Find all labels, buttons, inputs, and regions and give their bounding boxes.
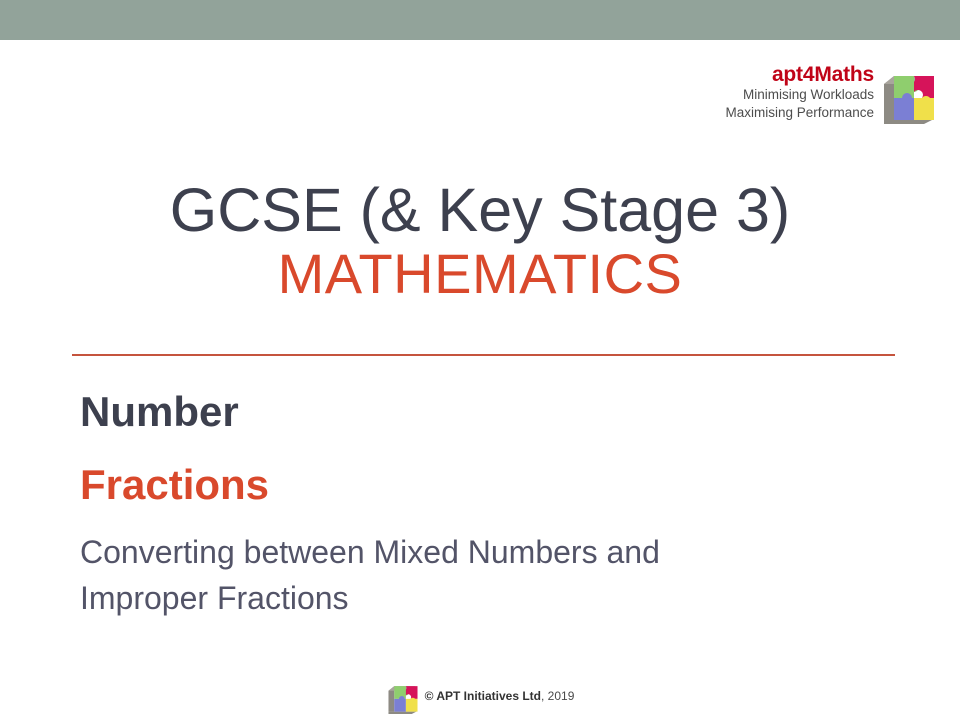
brand-tagline-line-1: Minimising Workloads [725, 86, 874, 104]
top-decorative-band [0, 0, 960, 40]
title-line-subject: MATHEMATICS [0, 244, 960, 304]
footer-copyright-year: , 2019 [541, 689, 574, 703]
brand-name: apt4Maths [725, 64, 874, 86]
subtopic-heading: Fractions [80, 461, 880, 508]
puzzle-pieces-logo-icon [880, 62, 938, 124]
brand-tagline-line-2: Maximising Performance [725, 104, 874, 122]
slide-title-block: GCSE (& Key Stage 3) MATHEMATICS [0, 178, 960, 304]
slide-footer: © APT Initiatives Ltd, 2019 [0, 678, 960, 714]
footer-puzzle-pieces-logo-icon [386, 678, 420, 714]
brand-logo-block: apt4Maths Minimising Workloads Maximisin… [725, 62, 938, 124]
title-line-qualification: GCSE (& Key Stage 3) [0, 178, 960, 244]
title-divider-rule [72, 354, 895, 356]
slide-body-block: Number Fractions Converting between Mixe… [80, 388, 880, 621]
brand-text-group: apt4Maths Minimising Workloads Maximisin… [725, 62, 874, 122]
lesson-description: Converting between Mixed Numbers and Imp… [80, 530, 780, 621]
footer-copyright: © APT Initiatives Ltd, 2019 [425, 689, 575, 703]
presentation-slide: apt4Maths Minimising Workloads Maximisin… [0, 0, 960, 720]
topic-heading: Number [80, 388, 880, 435]
footer-copyright-owner: © APT Initiatives Ltd [425, 689, 541, 703]
